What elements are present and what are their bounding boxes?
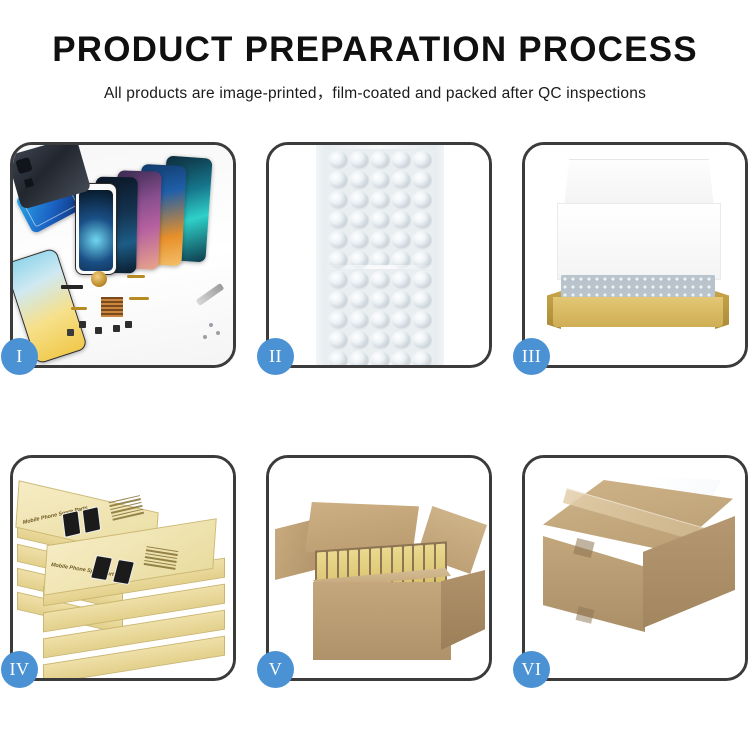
process-step-3: III [522, 142, 748, 368]
step-6-image [525, 458, 745, 678]
retail-box-stack: Mobile Phone Spare Parts Mobile Phone Sp… [17, 476, 233, 666]
step-2-image [269, 145, 489, 365]
screw-2 [216, 331, 220, 335]
phone-glass-screen [75, 183, 117, 275]
step-5-image [269, 458, 489, 678]
small-part-5 [67, 329, 74, 336]
bubble-grid [326, 149, 434, 363]
carton-side-face [441, 570, 485, 650]
process-step-grid: I [10, 142, 745, 681]
process-step-4: Mobile Phone Spare Parts Mobile Phone Sp… [10, 455, 236, 681]
step-badge-5: V [257, 651, 294, 688]
process-step-2: II [266, 142, 492, 368]
tweezers-tool [196, 283, 225, 306]
box-label-phone-img-1a [62, 510, 82, 538]
speaker-component [91, 271, 107, 287]
flex-cable-3 [71, 307, 87, 310]
screw-1 [209, 323, 213, 327]
carton-hand-hole-bottom [576, 606, 595, 623]
bubble-wrap-bag [316, 145, 444, 365]
flex-cable-2 [129, 297, 149, 300]
box-label-phone-img-1b [82, 506, 102, 534]
small-part-1 [79, 321, 86, 328]
step-badge-4: IV [1, 651, 38, 688]
process-step-6: VI [522, 455, 748, 681]
process-step-5: V [266, 455, 492, 681]
carton-front-face [313, 582, 451, 660]
step-1-image [13, 145, 233, 365]
mailer-lid-front [557, 203, 721, 280]
bubble-wrap-seam [326, 265, 434, 269]
step-badge-3: III [513, 338, 550, 375]
step-badge-6: VI [513, 651, 550, 688]
flex-strip-1 [61, 285, 83, 289]
step-badge-1: I [1, 338, 38, 375]
small-part-4 [125, 321, 132, 328]
small-part-2 [95, 327, 102, 334]
page-title: PRODUCT PREPARATION PROCESS [0, 32, 750, 67]
copper-grid-chip [101, 297, 123, 317]
process-step-1: I [10, 142, 236, 368]
step-4-image: Mobile Phone Spare Parts Mobile Phone Sp… [13, 458, 233, 678]
sealed-carton-front [543, 536, 645, 632]
screw-3 [203, 335, 207, 339]
product-preparation-infographic: PRODUCT PREPARATION PROCESS All products… [0, 0, 750, 750]
step-3-image [525, 145, 745, 365]
header: PRODUCT PREPARATION PROCESS All products… [0, 0, 750, 103]
page-subtitle: All products are image-printed，film-coat… [0, 81, 750, 103]
step-badge-2: II [257, 338, 294, 375]
flex-cable-1 [127, 275, 145, 278]
mailer-tray-front [553, 297, 723, 327]
small-part-3 [113, 325, 120, 332]
